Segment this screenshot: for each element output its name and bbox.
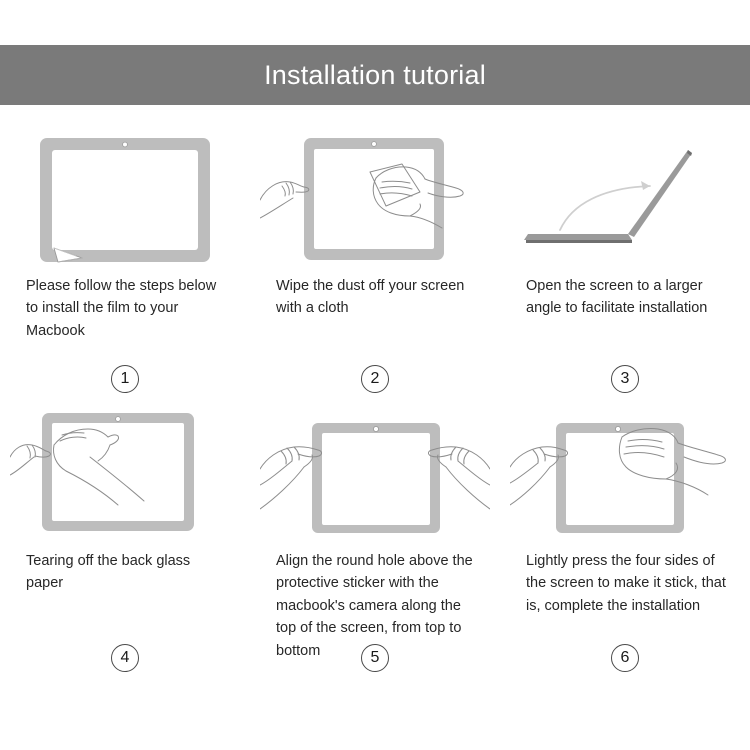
step-caption-3: Open the screen to a larger angle to fac… — [510, 275, 728, 320]
step-badge-4: 4 — [111, 644, 139, 672]
steps-grid: Please follow the steps below to install… — [0, 130, 750, 680]
hands-pressing-film-edges-icon — [510, 405, 740, 540]
page-title: Installation tutorial — [264, 62, 486, 89]
step-cell-4: Tearing off the back glass paper 4 — [0, 405, 250, 680]
step-caption-1: Please follow the steps below to install… — [10, 275, 228, 342]
step-badge-3: 3 — [611, 365, 639, 393]
hands-tearing-back-paper-icon — [10, 405, 240, 540]
step-cell-3: Open the screen to a larger angle to fac… — [500, 130, 750, 405]
step-caption-2: Wipe the dust off your screen with a clo… — [260, 275, 478, 320]
step-caption-6: Lightly press the four sides of the scre… — [510, 550, 728, 617]
step-caption-4: Tearing off the back glass paper — [10, 550, 228, 595]
two-hands-aligning-film-icon — [260, 405, 490, 540]
step-cell-1: Please follow the steps below to install… — [0, 130, 250, 405]
step-badge-2: 2 — [361, 365, 389, 393]
laptop-opening-screen-angle-icon — [510, 130, 740, 265]
tablet-screen-with-peeling-film-icon — [10, 130, 240, 265]
tutorial-header-bar: Installation tutorial — [0, 45, 750, 105]
step-badge-6: 6 — [611, 644, 639, 672]
step-cell-2: Wipe the dust off your screen with a clo… — [250, 130, 500, 405]
step-cell-5: Align the round hole above the protectiv… — [250, 405, 500, 680]
step-cell-6: Lightly press the four sides of the scre… — [500, 405, 750, 680]
step-badge-5: 5 — [361, 644, 389, 672]
step-badge-1: 1 — [111, 365, 139, 393]
hand-wiping-screen-with-cloth-icon — [260, 130, 490, 265]
